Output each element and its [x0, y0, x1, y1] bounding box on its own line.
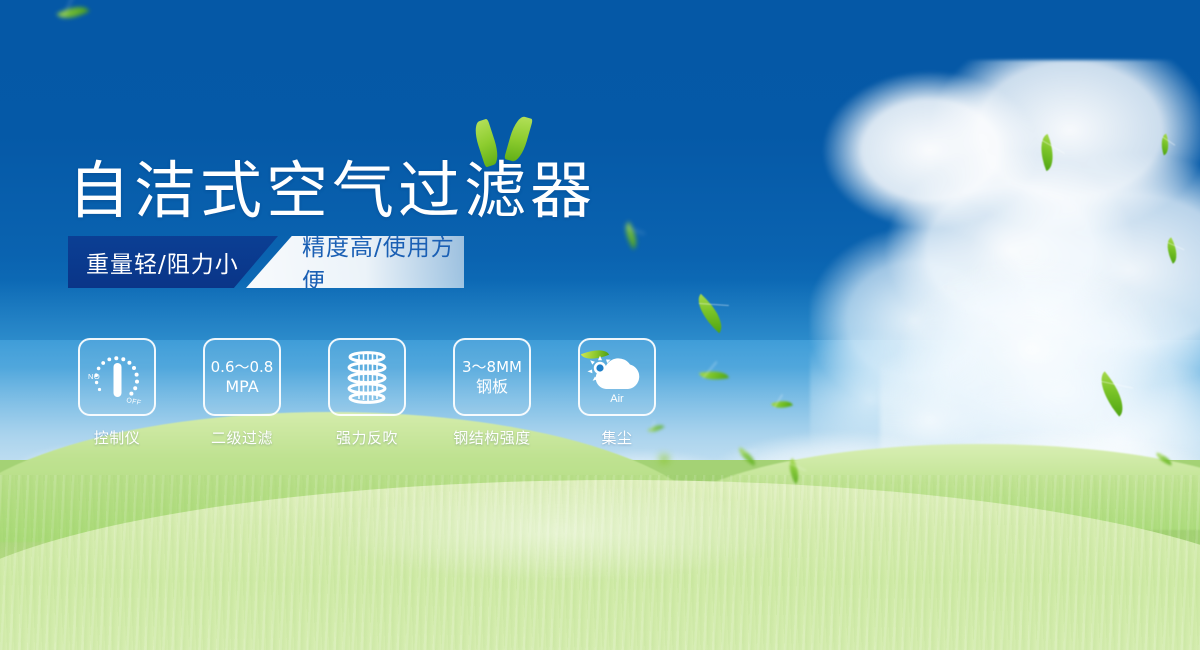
reverse-blow-spiral-icon: [338, 347, 396, 407]
feature-icon-box: [328, 338, 406, 416]
air-caption: Air: [584, 393, 650, 405]
feature-icon-box: 3～8MM 钢板: [453, 338, 531, 416]
feature-label: 控制仪: [94, 427, 141, 448]
feature-icon-box: NO OFF: [78, 338, 156, 416]
feature-item-control-dial[interactable]: NO OFF 控制仪: [80, 338, 154, 448]
grass-light-path: [250, 472, 870, 592]
subtitle-left-panel: 重量轻/阻力小: [68, 236, 278, 288]
steel-material: 钢板: [462, 377, 522, 396]
subtitle-bar: 重量轻/阻力小 精度高/使用方便: [68, 236, 464, 288]
feature-item-secondary-filter[interactable]: 0.6～0.8 MPA 二级过滤: [205, 338, 279, 448]
feature-item-reverse-blow[interactable]: 强力反吹: [330, 338, 404, 448]
feature-icon-box: Air: [578, 338, 656, 416]
feature-label: 二级过滤: [211, 427, 273, 448]
air-cloud-icon: Air: [584, 347, 650, 407]
feature-item-steel-strength[interactable]: 3～8MM 钢板 钢结构强度: [455, 338, 529, 448]
pressure-value: 0.6～0.8: [211, 358, 274, 376]
feature-label: 钢结构强度: [453, 427, 531, 448]
pressure-text-icon: 0.6～0.8 MPA: [211, 358, 274, 396]
subtitle-right-text: 精度高/使用方便: [246, 228, 464, 296]
feature-label: 强力反吹: [336, 427, 398, 448]
subtitle-left-text: 重量轻/阻力小: [68, 245, 239, 279]
control-dial-icon: NO OFF: [85, 346, 149, 408]
product-hero-banner: 自洁式空气过滤器 重量轻/阻力小 精度高/使用方便: [0, 0, 1200, 650]
feature-item-dust-collection[interactable]: Air 集尘: [580, 338, 654, 448]
steel-plate-text-icon: 3～8MM 钢板: [462, 358, 522, 396]
subtitle-right-panel: 精度高/使用方便: [246, 236, 464, 288]
feature-label: 集尘: [601, 427, 632, 448]
dial-on-label: NO: [88, 372, 100, 381]
steel-thickness: 3～8MM: [462, 358, 522, 376]
feature-icon-box: 0.6～0.8 MPA: [203, 338, 281, 416]
floating-leaf-icon: [655, 450, 673, 468]
feature-list: NO OFF 控制仪 0.6～0.8 MPA 二级过滤: [80, 338, 654, 448]
pressure-unit: MPA: [211, 377, 274, 396]
dial-off-label: OFF: [126, 397, 142, 407]
page-title: 自洁式空气过滤器: [68, 140, 596, 230]
